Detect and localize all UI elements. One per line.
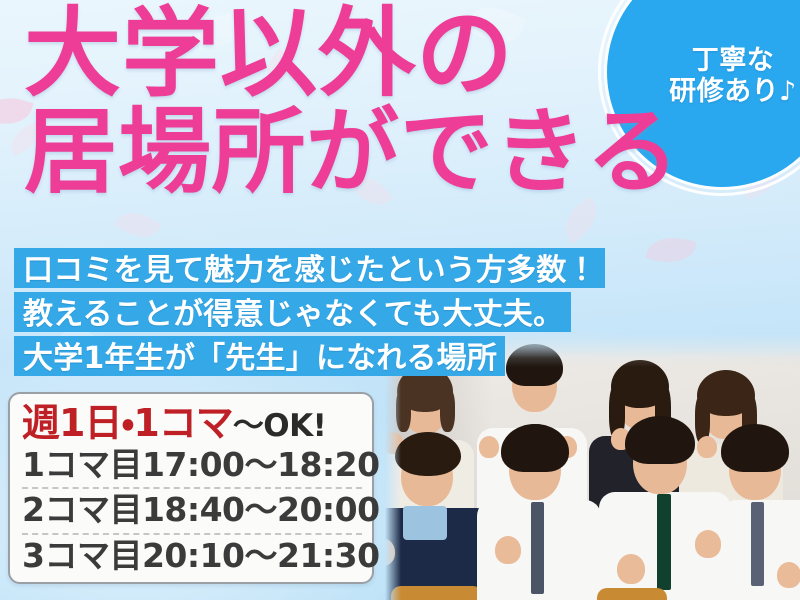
schedule-headline-ok: 〜OK!	[233, 408, 327, 444]
highlight-bar-2: 教えることが得意じゃなくても大丈夫。	[14, 292, 571, 332]
petal-decoration	[645, 231, 696, 269]
schedule-slot-2: 2コマ目18:40〜20:00	[22, 487, 362, 532]
headline-line-1: 大学以外の	[24, 6, 724, 101]
schedule-headline-red: 週1日・1コマ	[22, 401, 233, 445]
highlight-bar-1: 口コミを見て魅力を感じたという方多数！	[14, 248, 605, 288]
schedule-headline: 週1日・1コマ〜OK!	[22, 404, 362, 442]
schedule-slot-3: 3コマ目20:10〜21:30	[22, 533, 362, 578]
schedule-panel: 週1日・1コマ〜OK! 1コマ目17:00〜18:20 2コマ目18:40〜20…	[8, 392, 374, 584]
main-headline: 大学以外の 居場所ができる	[24, 6, 724, 198]
banner-root: 丁寧な 研修あり♪ 大学以外の 居場所ができる 口コミを見て魅力を感じたという方…	[0, 0, 800, 600]
headline-line-2: 居場所ができる	[24, 107, 724, 198]
petal-decoration	[114, 203, 162, 247]
highlight-bar-3: 大学1年生が「先生」になれる場所	[14, 336, 505, 376]
schedule-slot-1: 1コマ目17:00〜18:20	[22, 444, 362, 487]
